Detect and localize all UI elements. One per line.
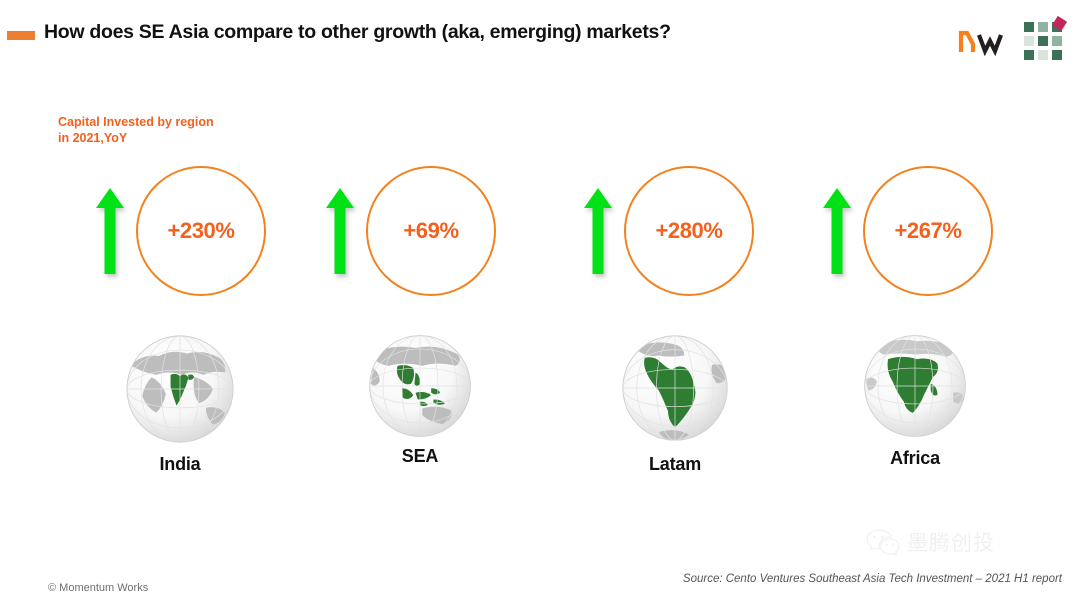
arrow-up-icon [96,188,124,274]
metric-bubble-india: +230% [136,166,266,296]
metric-bubble-africa: +267% [863,166,993,296]
metric-row: +230% +69% +280% +267% [0,166,1080,302]
region-label-sea: SEA [330,446,510,467]
brand-grid-icon [1024,22,1062,60]
arrow-up-icon [584,188,612,274]
metric-bubble-latam: +280% [624,166,754,296]
metric-africa: +267% [817,166,1017,302]
globe-africa-icon [859,330,971,442]
metric-latam: +280% [578,166,778,302]
metric-sea: +69% [320,166,520,302]
globe-sea-icon [364,330,476,442]
metric-bubble-sea: +69% [366,166,496,296]
chart-caption: Capital Invested by region in 2021,YoY [58,114,214,146]
globe-cell-africa: Africa [825,330,1005,469]
metric-value-india: +230% [167,218,234,244]
arrow-up-icon [823,188,851,274]
chart-caption-line-1: Capital Invested by region [58,114,214,130]
metric-value-sea: +69% [403,218,458,244]
globe-india-icon [121,330,239,448]
wechat-icon [866,528,900,556]
metric-india: +230% [90,166,290,302]
region-label-india: India [90,454,270,475]
watermark-text: 墨腾创投 [907,527,995,557]
brand-logo [958,22,1062,60]
region-label-latam: Latam [585,454,765,475]
globe-cell-india: India [90,330,270,475]
title-accent-bar [7,31,35,40]
globe-row: India [0,330,1080,500]
metric-value-latam: +280% [655,218,722,244]
globe-cell-sea: SEA [330,330,510,467]
metric-value-africa: +267% [894,218,961,244]
page-title: How does SE Asia compare to other growth… [44,21,671,44]
globe-cell-latam: Latam [585,330,765,475]
source-attribution: Source: Cento Ventures Southeast Asia Te… [683,573,1062,585]
momentum-works-wordmark-icon [958,26,1010,56]
region-label-africa: Africa [825,448,1005,469]
copyright-text: © Momentum Works [48,582,148,594]
wechat-watermark: 墨腾创投 [866,527,995,557]
chart-caption-line-2: in 2021,YoY [58,130,214,146]
globe-latam-icon [617,330,733,446]
arrow-up-icon [326,188,354,274]
